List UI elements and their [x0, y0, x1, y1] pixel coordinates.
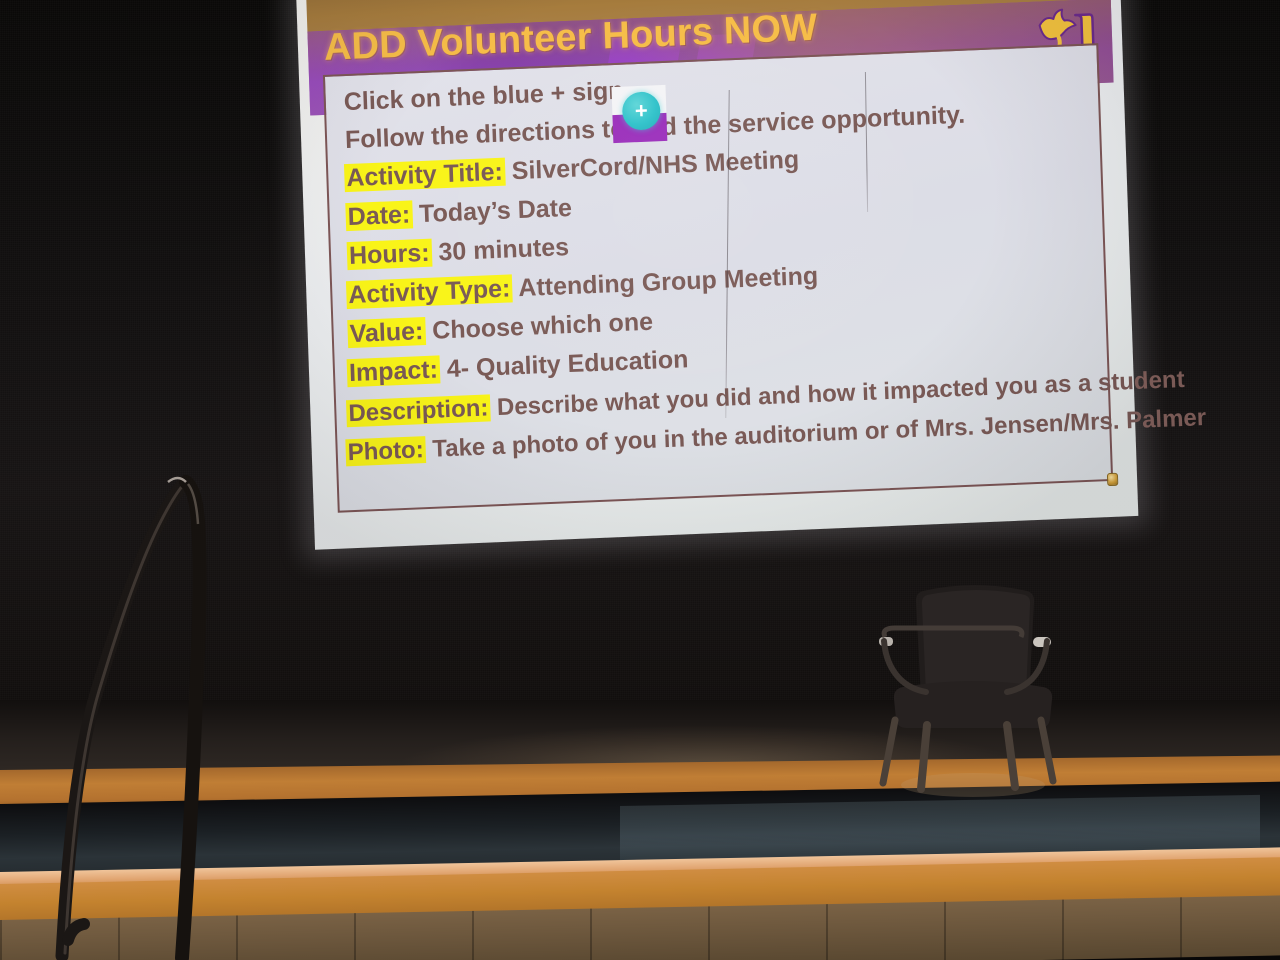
- stage-chair: [865, 575, 1075, 805]
- photo-label: Photo:: [345, 436, 426, 466]
- plus-glyph: +: [622, 91, 661, 131]
- value-value: Choose which one: [432, 308, 654, 345]
- impact-value: 4- Quality Education: [446, 345, 688, 383]
- value-label: Value:: [347, 317, 426, 348]
- instruction-click-text: Click on the blue + sign: [343, 77, 624, 116]
- resize-handle[interactable]: [1107, 473, 1118, 486]
- impact-label: Impact:: [347, 355, 441, 387]
- chair-icon: [865, 575, 1075, 805]
- activity-title-label: Activity Title:: [344, 158, 505, 193]
- hours-label: Hours:: [347, 239, 432, 270]
- description-label: Description:: [346, 394, 491, 427]
- date-label: Date:: [345, 200, 412, 231]
- activity-title-value: SilverCord/NHS Meeting: [511, 146, 799, 186]
- activity-type-label: Activity Type:: [346, 274, 513, 309]
- date-value: Today’s Date: [419, 194, 573, 228]
- screen-surface: ADD Volunteer Hours NOW Click on the blu…: [296, 0, 1138, 550]
- slide-content-inner: Click on the blue + sign Follow the dire…: [325, 45, 1111, 510]
- add-service-opportunity-button[interactable]: +: [611, 85, 667, 143]
- auditorium-scene: ADD Volunteer Hours NOW Click on the blu…: [0, 0, 1280, 960]
- hours-value: 30 minutes: [438, 233, 569, 266]
- activity-type-value: Attending Group Meeting: [518, 262, 819, 302]
- projection-screen: ADD Volunteer Hours NOW Click on the blu…: [296, 0, 1145, 560]
- slide-content-box: Click on the blue + sign Follow the dire…: [323, 43, 1113, 513]
- plus-icon[interactable]: +: [622, 91, 661, 131]
